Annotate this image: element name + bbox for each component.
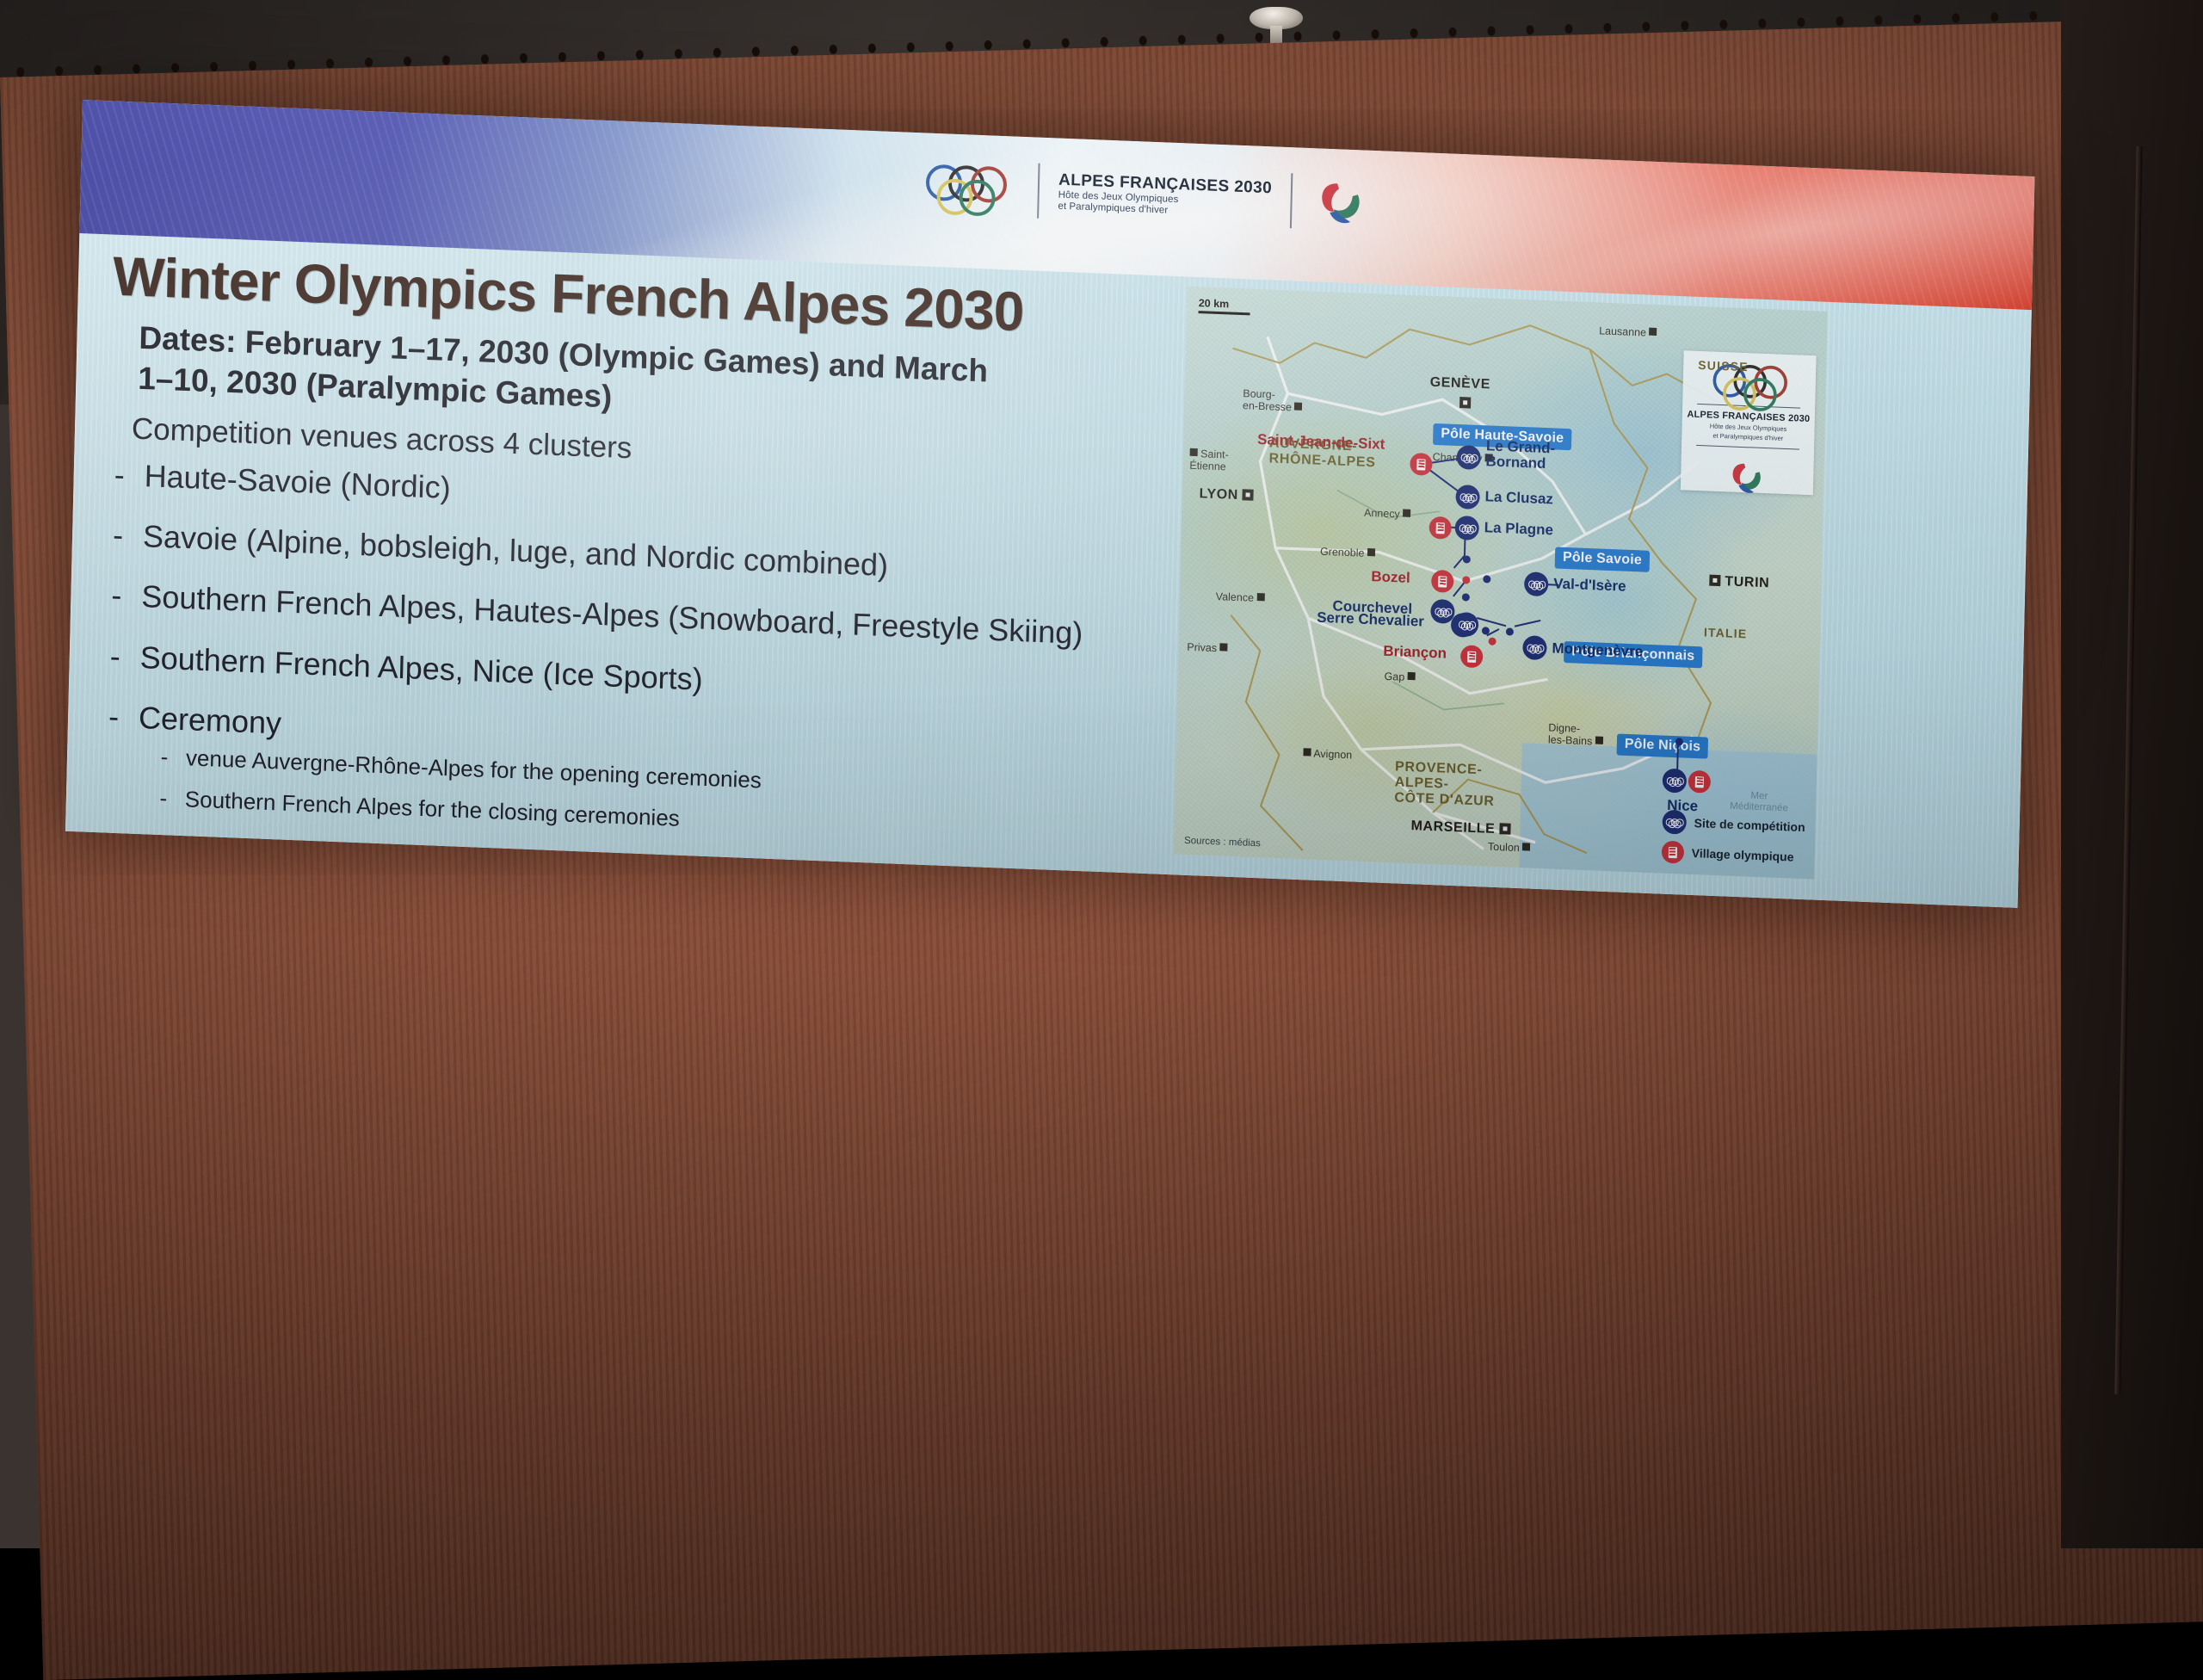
curtain-pinhole <box>1293 32 1301 41</box>
bullet-dash: - <box>111 456 127 494</box>
sub-bullet-dash: - <box>158 744 171 771</box>
venue-label-briancon: Briançon <box>1383 644 1447 662</box>
curtain-pinhole <box>481 54 489 64</box>
curtain-pinhole <box>1332 30 1340 40</box>
paralympic-agitos-icon <box>1311 177 1372 228</box>
room-scene: ALPES FRANÇAISES 2030 Hôte des Jeux Olym… <box>0 0 2203 1548</box>
curtain-pinhole <box>752 46 760 56</box>
venue-map: 20 km ALPES FRANÇAISES 2030 Hôte des Jeu… <box>1174 287 1828 880</box>
curtain-pinhole <box>1758 19 1766 28</box>
venue-label-le-grand-bornand: Le Grand-Bornand <box>1485 438 1562 472</box>
curtain-pinhole <box>1836 16 1843 26</box>
competition-site-icon <box>1662 810 1687 835</box>
venue-label-val-disere: Val-d'Isère <box>1553 576 1626 594</box>
sub-bullet-text: Southern French Alpes for the closing ce… <box>185 786 681 832</box>
curtain-pinhole <box>1371 29 1379 39</box>
olympic-rings-icon <box>925 164 1019 213</box>
curtain-pinhole <box>171 63 179 72</box>
curtain-pinhole <box>946 41 953 51</box>
curtain-pinhole <box>365 58 373 67</box>
right-dark-wall <box>2061 0 2203 1548</box>
curtain-pinhole <box>1526 25 1533 34</box>
curtain-pinhole <box>287 59 295 69</box>
bullet-list: - Haute-Savoie (Nordic) - Savoie (Alpine… <box>103 456 1178 867</box>
curtain-pinhole <box>1719 20 1727 29</box>
curtain-pinhole <box>1564 24 1572 34</box>
bullet-dash: - <box>106 697 122 735</box>
curtain-pinhole <box>1642 22 1650 31</box>
curtain-pinhole <box>1101 37 1108 46</box>
map-legend: Site de compétition Village olympique <box>1661 803 1805 869</box>
bullet-dash: - <box>110 516 127 554</box>
curtain-pinhole <box>249 61 256 71</box>
venue-label-la-plagne: La Plagne <box>1484 520 1554 538</box>
curtain-pinhole <box>1216 34 1224 43</box>
curtain-pinhole <box>1603 23 1611 33</box>
curtain-pinhole <box>636 50 644 59</box>
curtain-pinhole <box>2029 11 2037 21</box>
bullet-text: Ceremony <box>139 699 282 742</box>
curtain-pinhole <box>868 43 876 52</box>
curtain-pinhole <box>597 51 605 60</box>
curtain-pinhole <box>442 55 450 65</box>
curtain-pinhole <box>1410 28 1417 38</box>
bullet-text: Savoie (Alpine, bobsleigh, luge, and Nor… <box>143 517 889 584</box>
bullet-dash: - <box>107 637 123 675</box>
legend-label-village: Village olympique <box>1692 846 1794 864</box>
curtain-pinhole <box>1487 26 1495 35</box>
curtain-pinhole <box>1681 21 1688 30</box>
curtain-pinhole <box>520 53 528 63</box>
curtain-pinhole <box>830 45 837 54</box>
curtain-pinhole <box>984 40 992 50</box>
curtain-pinhole <box>55 66 63 76</box>
curtain-pinhole <box>1023 39 1031 48</box>
curtain-pinhole <box>1952 13 1959 22</box>
curtain-pinhole <box>713 47 721 57</box>
curtain-pinhole <box>404 57 411 66</box>
curtain-pinhole <box>210 62 218 71</box>
map-connectors <box>1174 287 1828 880</box>
projection-screen: ALPES FRANÇAISES 2030 Hôte des Jeux Olym… <box>65 100 2035 908</box>
curtain-pinhole <box>1990 12 1998 22</box>
legend-label-competition: Site de compétition <box>1694 816 1805 834</box>
curtain-pinhole <box>133 64 140 73</box>
venue-label-bozel: Bozel <box>1371 569 1410 586</box>
curtain-pinhole <box>1178 34 1186 44</box>
bullet-text: Southern French Alpes, Nice (Ice Sports) <box>139 639 703 698</box>
venue-label-la-clusaz: La Clusaz <box>1484 489 1553 507</box>
curtain-pinhole <box>1255 33 1262 42</box>
curtain-pinhole <box>1797 17 1805 27</box>
curtain-pinhole <box>1913 15 1921 24</box>
curtain-pinhole <box>1139 36 1147 46</box>
lockup-divider-2 <box>1290 173 1293 228</box>
curtain-pinhole <box>907 42 915 52</box>
olympic-village-icon <box>1661 841 1684 864</box>
curtain-pinhole <box>326 59 334 68</box>
curtain-pinhole <box>1874 15 1882 25</box>
curtain-pinhole <box>1448 28 1456 37</box>
curtain-pinhole <box>1062 38 1070 47</box>
curtain-pinhole <box>94 65 102 75</box>
curtain-pinhole <box>791 46 799 55</box>
presentation-slide: ALPES FRANÇAISES 2030 Hôte des Jeux Olym… <box>65 100 2035 908</box>
curtain-pinhole <box>675 49 682 59</box>
bullet-text: Southern French Alpes, Hautes-Alpes (Sno… <box>141 577 1083 652</box>
curtain-pinhole <box>16 67 24 77</box>
sub-bullet-dash: - <box>157 785 170 812</box>
curtain-pinhole <box>558 52 566 62</box>
lockup-divider <box>1037 164 1040 219</box>
legend-row-competition: Site de compétition <box>1662 810 1805 840</box>
bullet-dash: - <box>108 577 125 615</box>
